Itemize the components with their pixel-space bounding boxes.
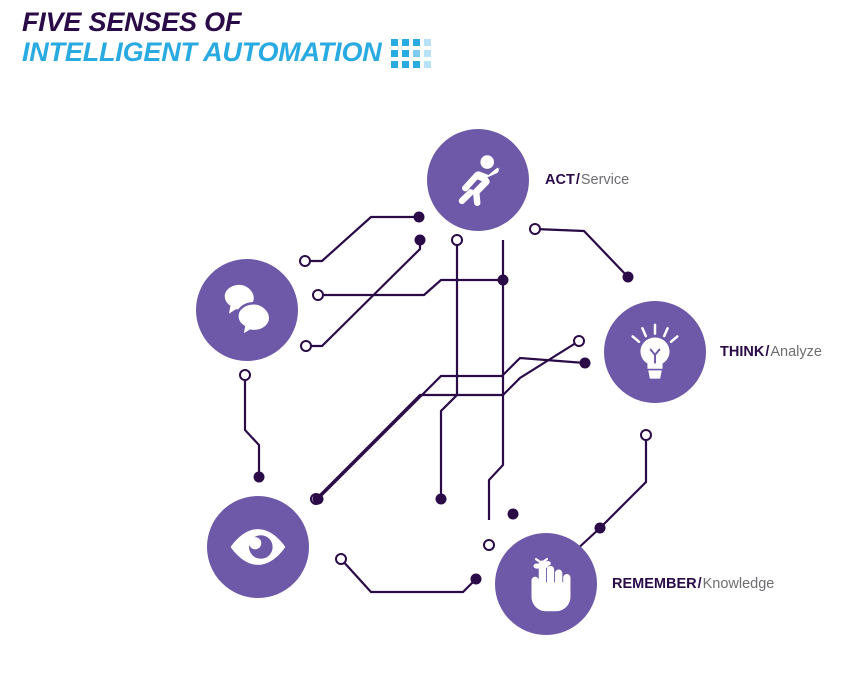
circuit-trace bbox=[535, 229, 628, 277]
circuit-terminal-filled bbox=[436, 494, 447, 505]
circuit-terminal-hollow bbox=[300, 256, 310, 266]
circuit-trace bbox=[441, 240, 457, 499]
circuit-trace bbox=[341, 559, 476, 592]
eye-icon bbox=[225, 514, 291, 580]
dot-grid-cell bbox=[424, 61, 431, 68]
circuit-terminal-filled bbox=[508, 509, 519, 520]
dot-grid-cell bbox=[402, 50, 409, 57]
circuit-terminals-filled bbox=[254, 212, 634, 585]
speech-bubbles-icon bbox=[216, 279, 278, 341]
title-block: FIVE SENSES OF INTELLIGENT AUTOMATION bbox=[22, 8, 582, 68]
circuit-trace bbox=[318, 358, 585, 499]
dot-grid-cell bbox=[402, 61, 409, 68]
circuit-terminal-hollow bbox=[301, 341, 311, 351]
think-label-key: THINK bbox=[720, 344, 764, 360]
circuit-terminal-hollow bbox=[484, 540, 494, 550]
dot-grid-cell bbox=[424, 39, 431, 46]
act-label-key: ACT bbox=[545, 172, 575, 188]
think-icon-circle[interactable] bbox=[604, 301, 706, 403]
title-row-secondary: INTELLIGENT AUTOMATION bbox=[22, 36, 582, 68]
title-line-primary: FIVE SENSES OF bbox=[22, 8, 582, 36]
lightbulb-icon bbox=[624, 321, 686, 383]
dot-grid-decoration bbox=[391, 39, 431, 68]
circuit-terminal-filled bbox=[415, 235, 426, 246]
hand-reminder-icon bbox=[517, 555, 575, 613]
circuit-trace bbox=[305, 217, 419, 261]
circuit-terminal-hollow bbox=[313, 290, 323, 300]
dot-grid-cell bbox=[413, 39, 420, 46]
circuit-trace bbox=[318, 280, 503, 295]
circuit-terminal-filled bbox=[580, 358, 591, 369]
circuit-trace bbox=[316, 341, 579, 499]
think-label-value: Analyze bbox=[770, 344, 822, 360]
circuit-terminal-filled bbox=[414, 212, 425, 223]
watch-icon-circle[interactable] bbox=[207, 496, 309, 598]
circuit-terminal-filled bbox=[498, 275, 509, 286]
circuit-terminal-hollow bbox=[574, 336, 584, 346]
remember-icon-circle[interactable] bbox=[495, 533, 597, 635]
remember-label-key: REMEMBER bbox=[612, 576, 697, 592]
act-label-value: Service bbox=[581, 172, 629, 188]
circuit-terminal-filled bbox=[313, 494, 324, 505]
circuit-terminal-hollow bbox=[452, 235, 462, 245]
circuit-terminal-hollow bbox=[641, 430, 651, 440]
dot-grid-cell bbox=[424, 50, 431, 57]
circuit-terminal-hollow bbox=[336, 554, 346, 564]
circuit-terminal-filled bbox=[254, 472, 265, 483]
remember-label: REMEMBER/Knowledge bbox=[612, 577, 774, 592]
think-label: THINK/Analyze bbox=[720, 345, 822, 360]
dot-grid-cell bbox=[413, 50, 420, 57]
five-senses-diagram: ACT/Service LISTEN/TALK/Interact bbox=[0, 95, 852, 691]
listen-talk-icon-circle[interactable] bbox=[196, 259, 298, 361]
act-icon-circle[interactable] bbox=[427, 129, 529, 231]
dot-grid-cell bbox=[402, 39, 409, 46]
circuit-terminal-filled bbox=[623, 272, 634, 283]
act-label: ACT/Service bbox=[545, 173, 629, 188]
circuit-trace-network bbox=[0, 95, 852, 691]
circuit-terminal-hollow bbox=[240, 370, 250, 380]
remember-label-value: Knowledge bbox=[703, 576, 775, 592]
dot-grid-cell bbox=[391, 61, 398, 68]
dot-grid-cell bbox=[413, 61, 420, 68]
dot-grid-cell bbox=[391, 39, 398, 46]
circuit-terminal-filled bbox=[471, 574, 482, 585]
running-person-icon bbox=[447, 149, 509, 211]
circuit-trace bbox=[245, 375, 259, 477]
circuit-trace bbox=[600, 435, 646, 528]
dot-grid-cell bbox=[391, 50, 398, 57]
title-line-secondary: INTELLIGENT AUTOMATION bbox=[22, 38, 382, 66]
circuit-terminal-hollow bbox=[530, 224, 540, 234]
circuit-terminal-filled bbox=[595, 523, 606, 534]
